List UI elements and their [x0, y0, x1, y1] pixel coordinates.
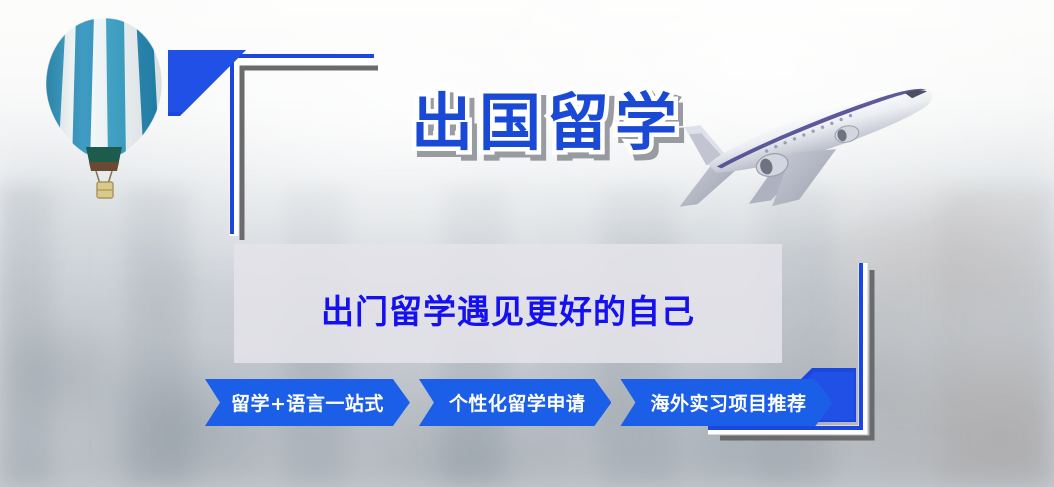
feature-tag-personalized-application[interactable]: 个性化留学申请: [419, 379, 612, 426]
airplane-icon: [660, 55, 960, 210]
corner-bracket-top-left-icon: [150, 28, 390, 243]
feature-tag-overseas-internship[interactable]: 海外实习项目推荐: [620, 379, 832, 426]
feature-tag-one-stop-service[interactable]: 留学+语言一站式: [205, 379, 410, 426]
study-abroad-banner: 出国留学 出门留学遇见更好的自己 留学+语言一站式 个性化留学申请 海外实习项目…: [0, 0, 1054, 487]
banner-subtitle: 出门留学遇见更好的自己: [234, 285, 782, 333]
hot-air-balloon-icon: [36, 14, 172, 204]
feature-tag-list: 留学+语言一站式 个性化留学申请 海外实习项目推荐: [205, 379, 832, 426]
